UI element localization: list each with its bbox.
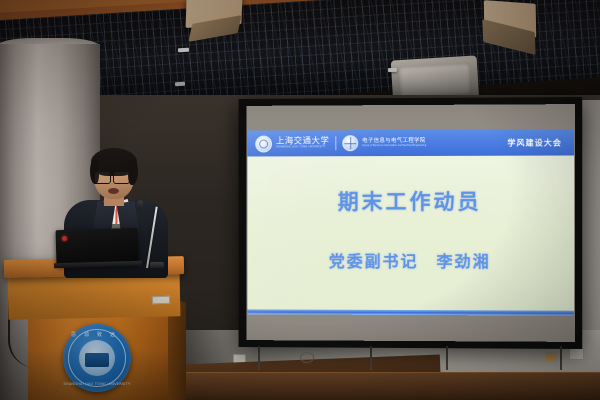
university-logo-text: 上海交通大学 SHANGHAI JIAO TONG UNIVERSITY xyxy=(276,137,329,149)
glasses-lens-right xyxy=(113,171,130,184)
screen-support-legs xyxy=(250,346,570,372)
university-logo: 上海交通大学 SHANGHAI JIAO TONG UNIVERSITY xyxy=(255,135,329,152)
school-name-en: School of Electronic Information and Ele… xyxy=(362,145,426,147)
laptop-logo-icon xyxy=(62,236,67,241)
microphone-base xyxy=(150,262,164,268)
school-logo: 电子信息与电气工程学院 School of Electronic Informa… xyxy=(342,135,426,151)
slide-subtitle: 党委副书记 李劲湘 xyxy=(329,248,491,272)
screen-leg-3 xyxy=(446,346,448,370)
slide-title: 期末工作动员 xyxy=(338,186,482,216)
university-emblem-icon: 思源致远 SHANGHAI JIAO TONG UNIVERSITY xyxy=(63,324,131,392)
glasses-bridge xyxy=(109,175,114,176)
mouth xyxy=(108,188,119,194)
university-name-en: SHANGHAI JIAO TONG UNIVERSITY xyxy=(276,147,329,150)
glasses-lens-left xyxy=(94,171,111,184)
wall-plate-right xyxy=(569,348,584,360)
presentation-slide: 上海交通大学 SHANGHAI JIAO TONG UNIVERSITY 电子信… xyxy=(247,129,574,315)
podium-label-tag xyxy=(152,296,170,305)
globe-icon xyxy=(342,135,358,151)
school-logo-text: 电子信息与电气工程学院 School of Electronic Informa… xyxy=(362,139,426,148)
screen-leg-1 xyxy=(258,346,260,370)
university-seal-icon xyxy=(255,135,272,152)
emblem-center-device xyxy=(79,340,115,376)
screen-leg-4 xyxy=(560,346,562,370)
emblem-text-en: SHANGHAI JIAO TONG UNIVERSITY xyxy=(63,382,131,386)
lecture-hall-photo: 上海交通大学 SHANGHAI JIAO TONG UNIVERSITY 电子信… xyxy=(0,0,600,400)
logo-divider xyxy=(335,136,336,150)
front-desk xyxy=(150,372,600,400)
slide-body: 期末工作动员 党委副书记 李劲湘 xyxy=(247,155,574,315)
ceiling-label-1 xyxy=(178,48,189,53)
emblem-text-cn: 思源致远 xyxy=(63,331,131,338)
screen-cable-loop xyxy=(300,352,314,363)
event-title: 学风建设大会 xyxy=(507,137,562,148)
slide-header-bar: 上海交通大学 SHANGHAI JIAO TONG UNIVERSITY 电子信… xyxy=(247,129,574,156)
screen-leg-2 xyxy=(370,346,372,370)
